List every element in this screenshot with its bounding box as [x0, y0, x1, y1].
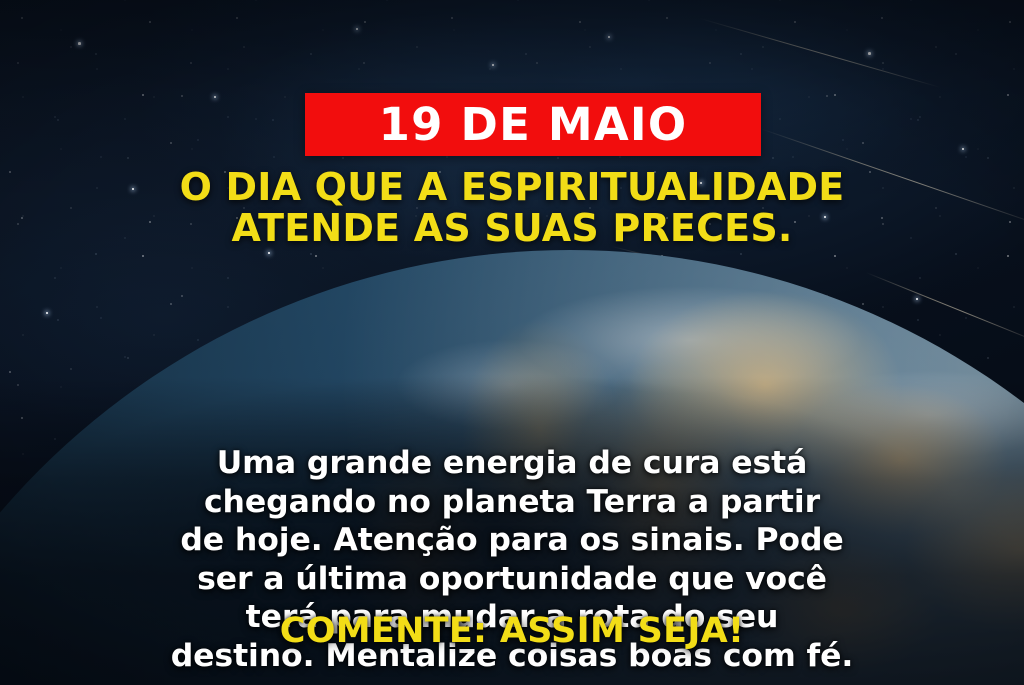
- poster-content: 19 DE MAIO O DIA QUE A ESPIRITUALIDADE A…: [0, 0, 1024, 685]
- body-line-2: chegando no planeta Terra a partir: [12, 483, 1012, 522]
- headline: O DIA QUE A ESPIRITUALIDADE ATENDE AS SU…: [0, 167, 1024, 248]
- date-banner: 19 DE MAIO: [305, 93, 761, 156]
- body-line-3: de hoje. Atenção para os sinais. Pode: [12, 521, 1012, 560]
- body-line-1: Uma grande energia de cura está: [12, 444, 1012, 483]
- date-banner-text: 19 DE MAIO: [379, 102, 688, 147]
- call-to-action-text: COMENTE: ASSIM SEJA!: [0, 614, 1024, 649]
- body-line-4: ser a última oportunidade que você: [12, 560, 1012, 599]
- headline-line-2: ATENDE AS SUAS PRECES.: [20, 208, 1004, 249]
- poster-root: 19 DE MAIO O DIA QUE A ESPIRITUALIDADE A…: [0, 0, 1024, 685]
- headline-line-1: O DIA QUE A ESPIRITUALIDADE: [20, 167, 1004, 208]
